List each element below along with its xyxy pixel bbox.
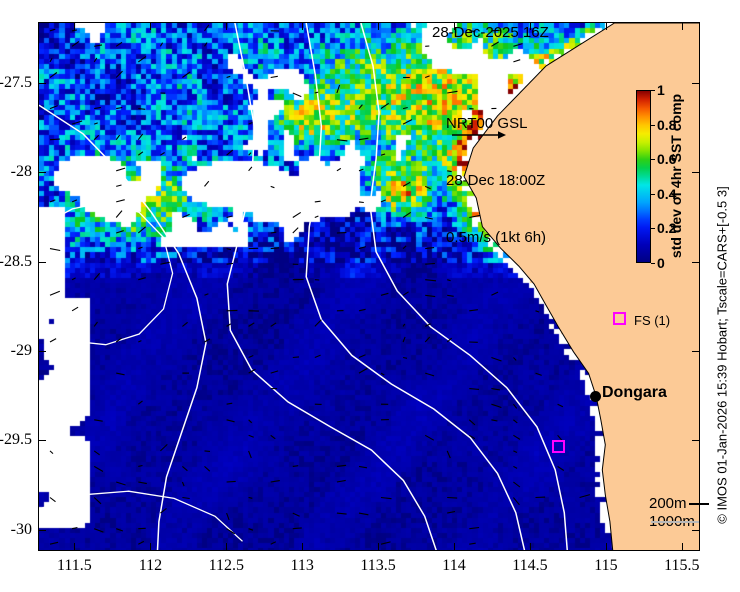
y-axis-tick-label: -27.5 (0, 74, 32, 92)
x-axis-tick-top (74, 22, 75, 30)
figure-root: 28-Dec-2025 16Z NRT00 GSL 28-Dec 18:00Z … (0, 0, 740, 592)
colorbar-tick (651, 263, 655, 264)
current-vector (359, 309, 366, 311)
current-vector (94, 58, 97, 62)
colorbar-tick-label: 0.4 (657, 186, 676, 202)
current-vector (381, 154, 385, 155)
current-vector (513, 404, 516, 408)
current-vector (227, 513, 230, 520)
current-vector (249, 529, 253, 531)
current-vector (182, 137, 186, 140)
depth-contour (39, 491, 243, 541)
x-axis-tick-label: 113.5 (360, 557, 395, 575)
current-vector (116, 373, 124, 375)
current-vector (94, 498, 101, 504)
current-vector (513, 451, 517, 453)
current-vector (315, 201, 321, 202)
current-vector (249, 451, 252, 458)
current-vector (94, 45, 102, 46)
current-vector (116, 42, 122, 46)
current-vector (94, 123, 98, 124)
current-vector (447, 295, 454, 296)
current-vector (425, 435, 434, 440)
x-axis-tick (74, 543, 75, 551)
depth-200m-label: 200m (649, 495, 695, 513)
y-axis-tick-right (692, 351, 700, 352)
current-vector (513, 482, 520, 487)
current-vector (50, 73, 57, 78)
current-vector (50, 542, 58, 544)
current-vector (94, 135, 99, 139)
current-vector (116, 185, 121, 186)
current-vector (293, 212, 301, 217)
current-vector (359, 355, 366, 358)
current-vector (491, 404, 501, 407)
current-vector (182, 322, 187, 326)
current-vector (359, 513, 368, 515)
current-vector (381, 498, 392, 499)
x-axis-tick (454, 543, 455, 551)
current-vector (558, 466, 564, 470)
colorbar-tick-label: 0.2 (657, 220, 676, 236)
x-axis-tick-top (530, 22, 531, 30)
colorbar-tick (651, 194, 655, 195)
x-axis-tick (530, 543, 531, 551)
x-axis-tick (682, 543, 683, 551)
map-plot-area[interactable] (38, 22, 700, 551)
current-vector (381, 542, 391, 544)
y-axis-tick (38, 440, 46, 441)
x-axis-tick (302, 543, 303, 551)
current-vector (513, 435, 520, 439)
x-axis-tick-label: 115 (594, 557, 617, 575)
timestamp-label: 28-Dec-2025 16Z (432, 24, 549, 41)
current-vector (447, 498, 457, 499)
current-vector (315, 355, 321, 357)
depth-contour-legend: 200m 1000m (649, 495, 695, 531)
y-axis-tick (38, 172, 46, 173)
current-vector (491, 389, 500, 390)
current-vector (50, 58, 52, 62)
current-vector (50, 451, 53, 454)
x-axis-tick-top (150, 22, 151, 30)
current-vector (425, 218, 433, 220)
current-vector (116, 211, 122, 218)
current-vector (536, 311, 540, 312)
current-vector (271, 186, 275, 187)
current-vector (337, 465, 346, 466)
current-vector (337, 168, 341, 170)
current-vector (491, 420, 497, 421)
y-axis-tick-right (692, 440, 700, 441)
y-axis-tick-label: -29.5 (0, 431, 32, 449)
current-vector (271, 323, 276, 327)
current-vector (160, 262, 169, 264)
current-vector (50, 200, 55, 202)
current-vector (381, 103, 389, 108)
current-vector (50, 249, 60, 251)
station-label-fs1: FS (1) (634, 313, 670, 328)
current-vector (160, 153, 164, 156)
vector-scale-label: 0.5m/s (1kt 6h) (446, 228, 546, 247)
x-axis-tick-label: 115.5 (664, 557, 699, 575)
current-vector (469, 528, 479, 529)
current-vector (271, 542, 276, 544)
current-vector (293, 528, 302, 529)
current-vector (359, 368, 367, 373)
current-vector (403, 292, 409, 296)
station-marker-secondary[interactable] (552, 440, 565, 453)
current-vector (337, 480, 346, 482)
current-vector (381, 200, 386, 202)
current-vector (425, 280, 436, 281)
x-axis-tick-label: 113 (290, 557, 313, 575)
current-vector (138, 541, 144, 544)
vector-scale-arrow-icon (452, 128, 512, 140)
current-vector (447, 451, 450, 458)
current-vector (50, 139, 60, 140)
depth-1000m-swatch (651, 521, 699, 523)
x-axis-tick (150, 543, 151, 551)
current-vector (94, 420, 103, 421)
current-vector (182, 466, 187, 470)
current-vector (403, 182, 410, 186)
current-vector (50, 29, 55, 31)
current-vector (94, 466, 103, 471)
current-vector (271, 76, 278, 77)
current-vector (227, 481, 236, 482)
current-vector (249, 323, 255, 327)
current-vector (271, 481, 280, 482)
x-axis-tick-label: 114 (442, 557, 465, 575)
current-vector (182, 498, 189, 499)
current-vector (359, 202, 364, 203)
x-axis-tick-top (226, 22, 227, 30)
dongara-label: Dongara (602, 384, 667, 402)
current-vector (315, 216, 319, 218)
colorbar-tick-label: 1 (657, 82, 665, 98)
current-vector (491, 358, 501, 362)
current-vector (469, 543, 475, 544)
current-vector (227, 420, 235, 422)
current-vector (160, 444, 167, 451)
current-vector (72, 278, 76, 280)
current-vector (50, 339, 56, 342)
y-axis-tick (38, 262, 46, 263)
current-vector (337, 513, 347, 514)
current-vector (205, 466, 210, 471)
current-vector (491, 292, 498, 295)
colorbar-tick (651, 228, 655, 229)
colorbar-tick-label: 0.6 (657, 151, 676, 167)
current-vector (403, 108, 408, 109)
current-vector (50, 498, 56, 502)
current-vector (227, 216, 233, 218)
current-vector (293, 93, 302, 97)
x-axis-tick (226, 543, 227, 551)
current-vector (513, 466, 517, 468)
depth-contour (39, 202, 173, 345)
current-vector (469, 420, 475, 425)
current-vector (205, 43, 208, 47)
dongara-marker-dot (590, 391, 601, 402)
current-vector (249, 356, 254, 358)
x-axis-tick-label: 111.5 (57, 557, 92, 575)
current-vector (227, 76, 231, 77)
current-vector (249, 498, 253, 499)
current-vector (271, 232, 277, 233)
current-vector (116, 231, 124, 233)
current-vector (447, 512, 455, 514)
copyright-credit: © IMOS 01-Jan-2026 15:39 Hobart; Tscale=… (715, 186, 730, 523)
current-vector (403, 120, 412, 125)
current-vector (138, 152, 143, 155)
current-vector (425, 337, 430, 342)
current-vector (249, 435, 254, 437)
current-vector (249, 167, 252, 171)
current-vector (227, 529, 235, 534)
x-axis-tick-label: 112.5 (209, 557, 244, 575)
y-axis-tick (38, 530, 46, 531)
product-info-block: NRT00 GSL 28-Dec 18:00Z 0.5m/s (1kt 6h) (446, 76, 546, 285)
current-vector (337, 85, 340, 93)
x-axis-tick-label: 112 (139, 557, 162, 575)
y-axis-tick-label: -29 (0, 342, 32, 360)
x-axis-tick-top (682, 22, 683, 30)
product-time-label: 28-Dec 18:00Z (446, 171, 546, 190)
current-vector (425, 264, 435, 265)
current-vector (337, 140, 348, 141)
current-vector (138, 56, 146, 62)
current-vector (425, 295, 435, 296)
y-axis-tick-label: -30 (0, 521, 32, 539)
current-vector (403, 212, 411, 217)
current-vector (50, 106, 58, 109)
current-vector (227, 150, 233, 155)
current-vector (116, 482, 125, 485)
current-vector (94, 451, 99, 455)
x-axis-tick-top (302, 22, 303, 30)
current-vector (359, 466, 367, 467)
colorbar-gradient (636, 90, 651, 263)
current-vector (359, 138, 368, 140)
current-vector (293, 228, 298, 233)
current-vector (249, 420, 252, 423)
current-vector (249, 123, 253, 125)
current-vector (491, 42, 498, 46)
current-vector (403, 358, 407, 359)
colorbar-tick-label: 0.8 (657, 117, 676, 133)
current-vector (315, 320, 322, 327)
x-axis-tick-label: 114.5 (512, 557, 547, 575)
current-vector (72, 307, 78, 311)
x-axis-tick (378, 543, 379, 551)
y-axis-tick-right (692, 530, 700, 531)
current-vector (227, 249, 231, 250)
current-vector (513, 420, 517, 423)
current-vector (94, 273, 99, 279)
current-vector (138, 466, 142, 467)
current-vector (513, 358, 516, 361)
current-vector (403, 324, 405, 327)
colorbar-tick (651, 159, 655, 160)
current-vector (205, 25, 209, 31)
y-axis-tick-label: -28 (0, 163, 32, 181)
current-vector (580, 495, 590, 498)
current-vector (50, 291, 60, 295)
current-vector (227, 403, 233, 404)
current-vector (116, 200, 125, 202)
current-vector (72, 200, 77, 202)
depth-contour (227, 23, 436, 551)
current-vector (94, 107, 101, 108)
current-vector (359, 247, 366, 249)
current-vector (403, 246, 406, 249)
x-axis-tick-top (454, 22, 455, 30)
y-axis-tick-right (692, 262, 700, 263)
current-vector (116, 135, 120, 140)
current-vector (249, 153, 252, 156)
station-marker-fs1[interactable] (613, 312, 626, 325)
current-vector (425, 186, 430, 188)
current-vector (469, 310, 478, 311)
current-vector (138, 482, 147, 484)
current-vector (138, 134, 142, 140)
current-vector (271, 371, 279, 373)
current-vector (469, 389, 479, 390)
current-vector (138, 247, 142, 248)
colorbar-tick-label: 0 (657, 255, 665, 271)
current-vector (205, 294, 209, 296)
current-vector (205, 181, 209, 186)
current-vector (138, 109, 145, 110)
y-axis-tick-right (692, 172, 700, 173)
colorbar-tick (651, 125, 655, 126)
current-vector (72, 42, 79, 47)
current-vector (72, 121, 82, 124)
current-vector (182, 482, 184, 486)
current-vector (271, 435, 276, 439)
current-vector (116, 529, 123, 531)
current-vector (381, 293, 388, 295)
current-vector (293, 513, 300, 516)
current-vector (513, 44, 522, 47)
current-vector (513, 498, 519, 505)
current-vector (381, 373, 384, 375)
current-vector (72, 528, 77, 529)
y-axis-tick (38, 351, 46, 352)
current-vector (536, 373, 542, 375)
current-vector (138, 401, 142, 404)
x-axis-tick-top (378, 22, 379, 30)
map-overlay-layer (39, 23, 700, 551)
current-vector (271, 248, 279, 249)
current-vector (293, 357, 299, 358)
y-axis-tick-label: -28.5 (0, 253, 32, 271)
current-vector (293, 466, 299, 467)
current-vector (160, 43, 162, 47)
current-vector (403, 337, 405, 342)
x-axis-tick (606, 543, 607, 551)
current-vector (182, 72, 190, 78)
current-vector (94, 529, 103, 532)
current-vector (513, 60, 520, 62)
current-vector (72, 30, 77, 31)
current-vector (94, 322, 97, 326)
current-vector (182, 214, 189, 217)
current-vector (425, 248, 434, 249)
y-axis-tick (38, 83, 46, 84)
current-vector (558, 404, 563, 407)
current-vector (425, 373, 434, 376)
current-vector (116, 71, 122, 77)
current-vector (205, 451, 211, 452)
current-vector (359, 169, 363, 171)
current-vector (425, 76, 429, 78)
depth-200m-swatch (689, 503, 709, 505)
current-vector (138, 227, 145, 233)
colorbar-tick (651, 90, 655, 91)
current-vector (138, 341, 141, 342)
y-axis-tick-right (692, 83, 700, 84)
x-axis-tick-top (606, 22, 607, 30)
current-vector (359, 105, 362, 109)
current-vector (138, 278, 145, 280)
current-vector (116, 108, 122, 109)
